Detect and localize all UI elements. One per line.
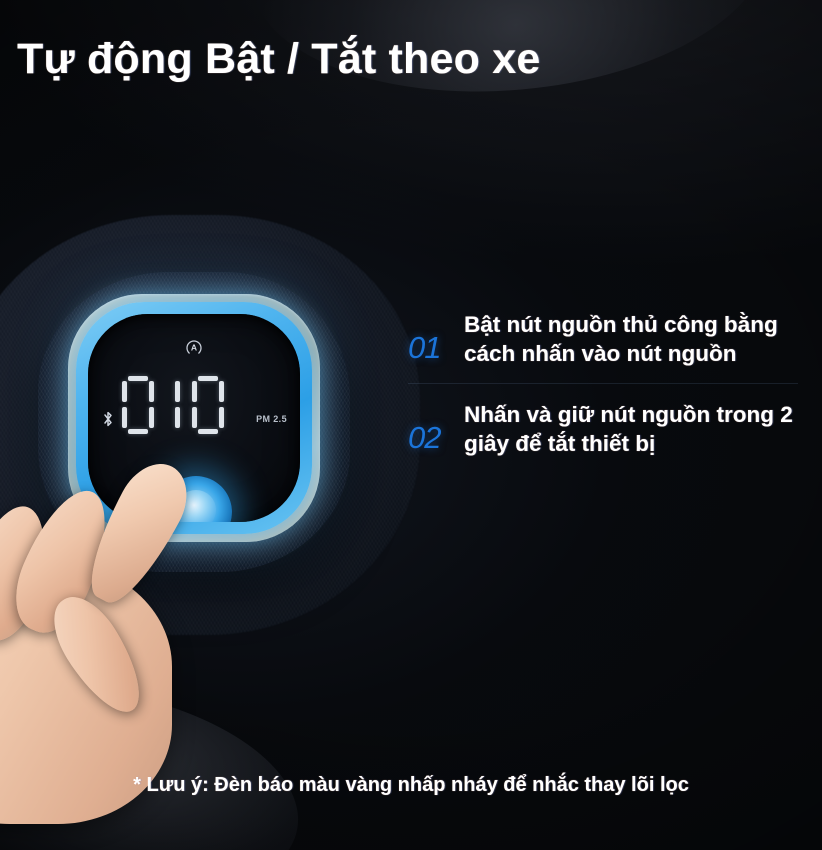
segment-b: [149, 381, 154, 402]
auto-mode-icon: A: [185, 338, 203, 361]
segment-e: [192, 407, 197, 428]
svg-text:A: A: [191, 342, 197, 352]
pm25-reading: [122, 376, 224, 434]
display-digit: [122, 376, 154, 434]
segment-b: [175, 381, 180, 402]
segment-c: [175, 407, 180, 428]
display-digit: [166, 376, 180, 434]
page-title: Tự động Bật / Tắt theo xe: [17, 35, 540, 84]
segment-d: [198, 429, 218, 434]
segment-f: [122, 381, 127, 402]
list-item: 01 Bật nút nguồn thủ công bằng cách nhấn…: [408, 300, 798, 383]
step-text: Bật nút nguồn thủ công bằng cách nhấn và…: [464, 310, 798, 369]
segment-c: [149, 407, 154, 428]
segment-f: [192, 381, 197, 402]
bluetooth-icon: [102, 410, 114, 433]
step-number: 02: [408, 400, 464, 453]
hand-pressing-button: [0, 470, 242, 800]
promo-slide: Tự động Bật / Tắt theo xe A: [0, 0, 822, 850]
instruction-steps: 01 Bật nút nguồn thủ công bằng cách nhấn…: [408, 300, 798, 473]
footer-note: * Lưu ý: Đèn báo màu vàng nhấp nháy để n…: [0, 774, 822, 797]
list-item: 02 Nhấn và giữ nút nguồn trong 2 giây để…: [408, 383, 798, 473]
step-text: Nhấn và giữ nút nguồn trong 2 giây để tắ…: [464, 400, 798, 459]
pm25-unit-label: PM 2.5: [256, 414, 287, 424]
segment-b: [219, 381, 224, 402]
segment-a: [128, 376, 148, 381]
segment-a: [198, 376, 218, 381]
segment-c: [219, 407, 224, 428]
segment-e: [122, 407, 127, 428]
display-digit: [192, 376, 224, 434]
segment-d: [128, 429, 148, 434]
step-number: 01: [408, 310, 464, 363]
